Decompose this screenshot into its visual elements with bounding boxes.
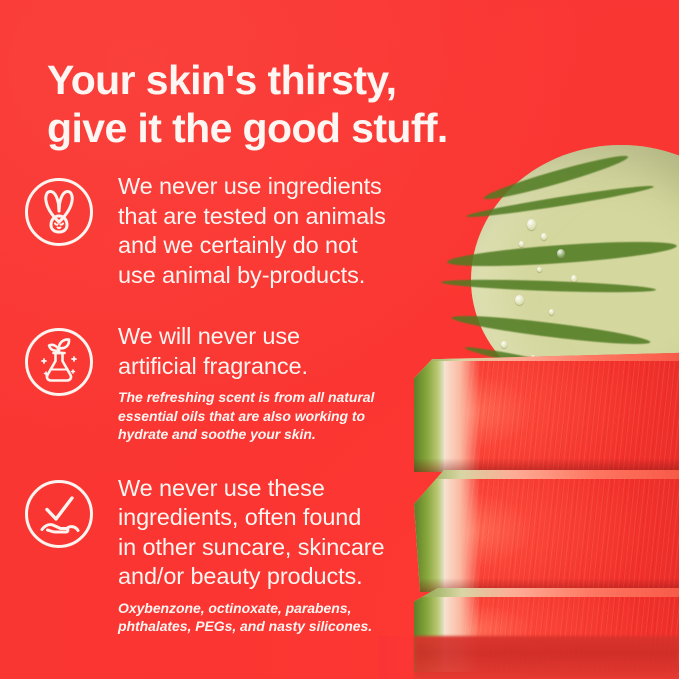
claim-item-no-bad-ingredients: We never use these ingredients, often fo… bbox=[0, 474, 500, 636]
claim-text: We will never use artificial fragrance. … bbox=[118, 322, 500, 444]
water-droplet bbox=[557, 249, 565, 258]
water-droplet bbox=[527, 219, 536, 230]
claim-line: artificial fragrance. bbox=[118, 352, 480, 382]
water-droplet bbox=[537, 267, 542, 272]
claim-text: We never use these ingredients, often fo… bbox=[118, 474, 500, 636]
claim-line: that are tested on animals bbox=[118, 202, 480, 232]
claim-line: and/or beauty products. bbox=[118, 562, 480, 592]
claim-sub-line: The refreshing scent is from all natural bbox=[118, 388, 480, 407]
claim-line: and we certainly do not bbox=[118, 231, 480, 261]
claim-icon-wrap bbox=[0, 322, 118, 396]
claim-icon-wrap bbox=[0, 172, 118, 246]
water-droplet bbox=[501, 341, 507, 348]
poster-canvas: Your skin's thirsty, give it the good st… bbox=[0, 0, 679, 679]
claim-sub-line: Oxybenzone, octinoxate, parabens, bbox=[118, 599, 480, 618]
claim-main-text: We never use ingredients that are tested… bbox=[118, 172, 480, 290]
claim-icon-wrap bbox=[0, 474, 118, 548]
claims-list: We never use ingredients that are tested… bbox=[0, 168, 500, 636]
claim-sub-line: phthalates, PEGs, and nasty silicones. bbox=[118, 617, 480, 636]
content-column: Your skin's thirsty, give it the good st… bbox=[0, 0, 500, 679]
claim-main-text: We will never use artificial fragrance. bbox=[118, 322, 480, 381]
headline-line-2: give it the good stuff. bbox=[47, 104, 487, 152]
claim-text: We never use ingredients that are tested… bbox=[118, 172, 500, 290]
water-droplet bbox=[515, 295, 524, 305]
check-hand-icon bbox=[25, 480, 93, 548]
claim-sub-text: The refreshing scent is from all natural… bbox=[118, 388, 480, 444]
claim-line: in other suncare, skincare bbox=[118, 533, 480, 563]
water-droplet bbox=[571, 275, 577, 282]
claim-sub-line: hydrate and soothe your skin. bbox=[118, 425, 480, 444]
claim-line: ingredients, often found bbox=[118, 503, 480, 533]
claim-line: We will never use bbox=[118, 322, 480, 352]
claim-item-cruelty-free: We never use ingredients that are tested… bbox=[0, 172, 500, 290]
claim-line: use animal by-products. bbox=[118, 261, 480, 291]
water-droplet bbox=[549, 309, 554, 315]
flask-leaf-icon bbox=[25, 328, 93, 396]
claim-line: We never use ingredients bbox=[118, 172, 480, 202]
claim-sub-line: essential oils that are also working to bbox=[118, 407, 480, 426]
claim-line: We never use these bbox=[118, 474, 480, 504]
rabbit-icon bbox=[25, 178, 93, 246]
headline-line-1: Your skin's thirsty, bbox=[47, 56, 487, 104]
claim-item-no-artificial-fragrance: We will never use artificial fragrance. … bbox=[0, 322, 500, 444]
page-title: Your skin's thirsty, give it the good st… bbox=[47, 56, 487, 152]
water-droplet bbox=[541, 233, 547, 240]
claim-main-text: We never use these ingredients, often fo… bbox=[118, 474, 480, 592]
claim-sub-text: Oxybenzone, octinoxate, parabens, phthal… bbox=[118, 599, 480, 636]
water-droplet bbox=[519, 241, 524, 247]
